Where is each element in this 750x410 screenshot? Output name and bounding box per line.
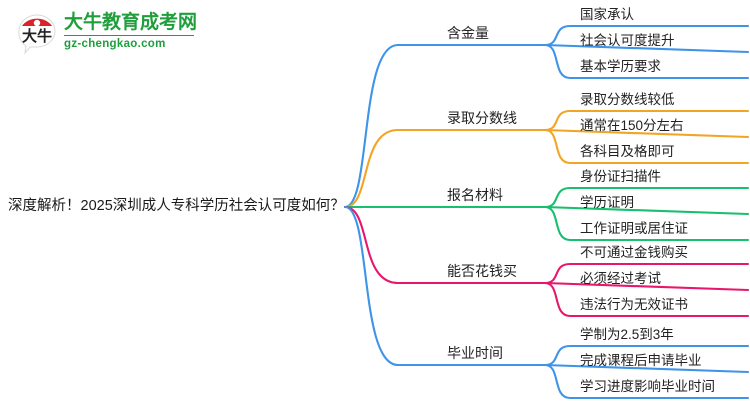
mindmap-leaf-5-1[interactable]: 学制为2.5到3年 xyxy=(580,328,674,342)
mindmap-root-node[interactable]: 深度解析！2025深圳成人专科学历社会认可度如何？ xyxy=(8,199,345,214)
mindmap-leaf-1-1[interactable]: 国家承认 xyxy=(580,8,634,22)
mindmap-leaf-4-1[interactable]: 不可通过金钱购买 xyxy=(580,246,688,260)
mindmap-leaf-5-3[interactable]: 学习进度影响毕业时间 xyxy=(580,380,715,394)
mindmap-leaf-3-2[interactable]: 学历证明 xyxy=(580,196,634,210)
mindmap-connector xyxy=(345,45,545,207)
mindmap-connector xyxy=(545,207,748,214)
mindmap-leaf-4-2[interactable]: 必须经过考试 xyxy=(580,272,661,286)
mindmap-leaf-1-3[interactable]: 基本学历要求 xyxy=(580,60,661,74)
mindmap-connector xyxy=(345,130,545,207)
mindmap-leaf-2-3[interactable]: 各科目及格即可 xyxy=(580,145,675,159)
mindmap-leaf-4-3[interactable]: 违法行为无效证书 xyxy=(580,298,688,312)
mindmap-branch-1[interactable]: 含金量 xyxy=(447,26,489,40)
mindmap-branch-2[interactable]: 录取分数线 xyxy=(447,111,517,125)
mindmap-connector xyxy=(545,188,748,207)
mindmap-branch-4[interactable]: 能否花钱买 xyxy=(447,264,517,278)
mindmap-leaf-3-1[interactable]: 身份证扫描件 xyxy=(580,170,661,184)
mindmap-leaf-2-2[interactable]: 通常在150分左右 xyxy=(580,119,684,133)
mindmap-connector xyxy=(345,207,545,365)
mindmap-branch-3[interactable]: 报名材料 xyxy=(447,188,503,202)
mindmap-leaf-5-2[interactable]: 完成课程后申请毕业 xyxy=(580,354,702,368)
mindmap-leaf-2-1[interactable]: 录取分数线较低 xyxy=(580,93,675,107)
mindmap-leaf-1-2[interactable]: 社会认可度提升 xyxy=(580,34,675,48)
mindmap-leaf-3-3[interactable]: 工作证明或居住证 xyxy=(580,222,688,236)
mindmap-branch-5[interactable]: 毕业时间 xyxy=(447,346,503,360)
